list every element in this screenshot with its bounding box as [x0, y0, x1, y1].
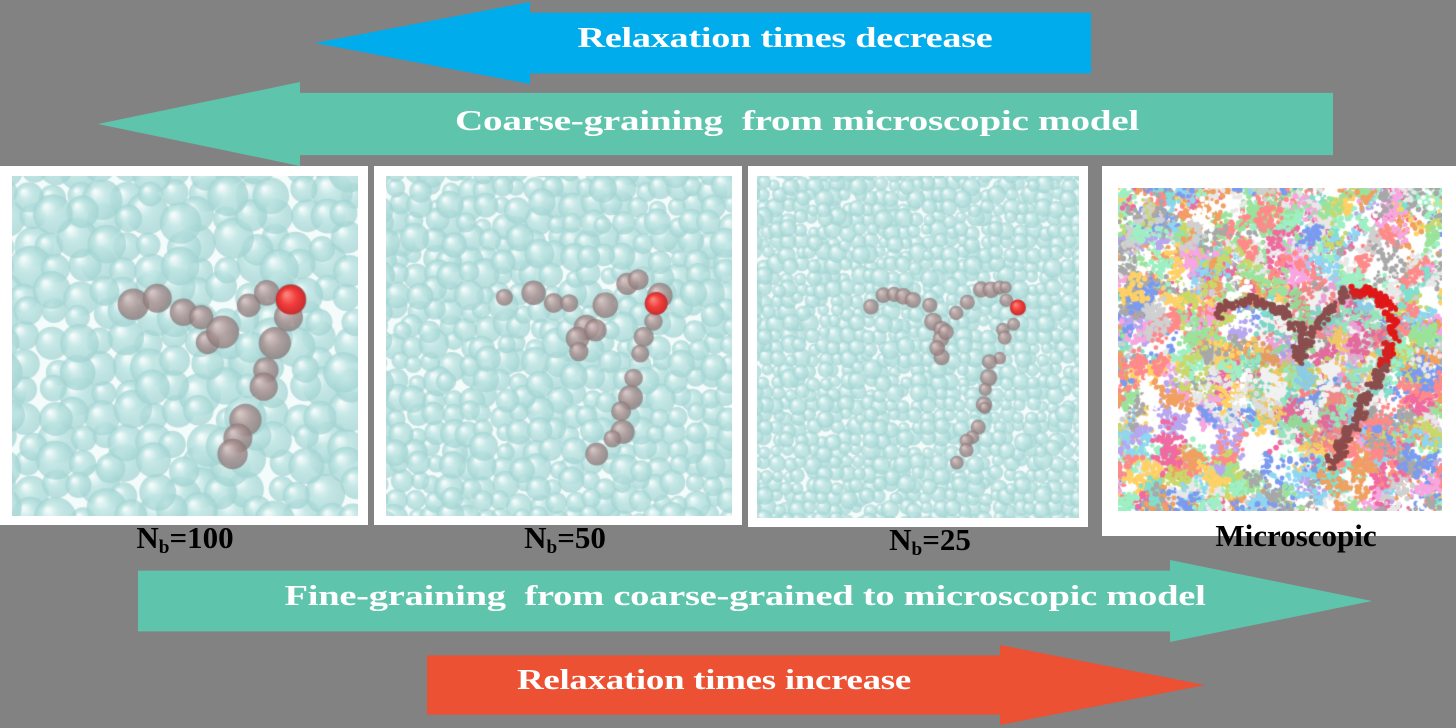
arrow-label-relaxation-decrease: Relaxation times decrease [578, 24, 993, 53]
panel-nb25-label: Nb=25 [889, 524, 971, 555]
label-subscript: b [547, 537, 558, 558]
panel-microscopic-render [1118, 188, 1442, 511]
panel-nb50-render [386, 176, 732, 516]
arrow-label-coarse-graining: Coarse-graining from microscopic model [455, 107, 1139, 136]
arrow-label-fine-graining: Fine-graining from coarse-grained to mic… [284, 582, 1205, 611]
panel-microscopic-label: Microscopic [1215, 520, 1376, 551]
arrow-label-relaxation-increase: Relaxation times increase [517, 666, 911, 695]
label-value: =25 [922, 522, 971, 557]
panel-microscopic-canvas [1118, 188, 1442, 511]
panel-nb50-label: Nb=50 [524, 522, 606, 553]
label-subscript: b [912, 539, 923, 560]
label-value: Microscopic [1215, 518, 1376, 553]
label-value: =100 [169, 520, 233, 555]
label-symbol: N [136, 520, 158, 555]
label-symbol: N [524, 520, 546, 555]
panel-nb25-render [757, 176, 1079, 518]
panel-nb50-canvas [386, 176, 732, 516]
panel-nb100-canvas [12, 176, 358, 516]
panel-nb100-render [12, 176, 358, 516]
label-subscript: b [159, 537, 170, 558]
panel-nb100-label: Nb=100 [136, 522, 233, 553]
figure-canvas: Relaxation times decreaseCoarse-graining… [0, 0, 1456, 728]
label-value: =50 [557, 520, 606, 555]
panel-nb25-canvas [757, 176, 1079, 518]
label-symbol: N [889, 522, 911, 557]
